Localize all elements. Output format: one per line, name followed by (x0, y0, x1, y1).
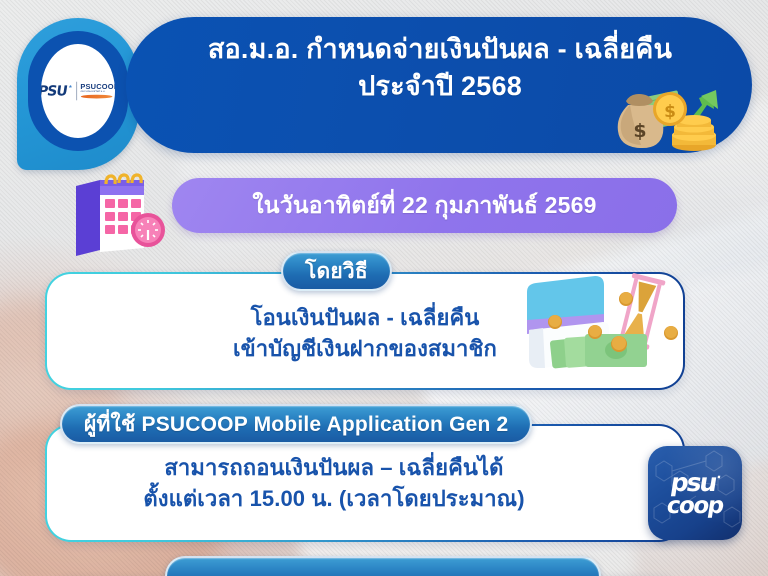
method-badge: โดยวิธี (281, 251, 392, 291)
mobile-app-card-text: สามารถถอนเงินปันผล – เฉลี่ยคืนได้ ตั้งแต… (55, 452, 613, 514)
app-icon-coop-text: coop (665, 493, 725, 519)
date-banner-text: ในวันอาทิตย์ที่ 22 กุมภาพันธ์ 2569 (252, 188, 596, 224)
page-title-line1: สอ.ม.อ. กำหนดจ่ายเงินปันผล - เฉลี่ยคืน (208, 34, 672, 64)
svg-text:$: $ (633, 120, 646, 142)
logo-pin-shape: PSU * PSUCOOP สหกรณ์ออมทรัพย์ ม.อ. (17, 18, 139, 170)
psucoop-logo-icon: PSU * PSUCOOP สหกรณ์ออมทรัพย์ ม.อ. (41, 44, 115, 138)
logo-coop-subtext: สหกรณ์ออมทรัพย์ ม.อ. (80, 91, 115, 93)
logo-divider (75, 82, 76, 101)
svg-text:$: $ (664, 102, 676, 122)
method-badge-label: โดยวิธี (305, 255, 368, 288)
logo-psu-text: PSU (41, 83, 68, 100)
wallet-cash-coins-hourglass-icon (523, 270, 699, 382)
money-bag-coins-growth-arrow-icon: $ $ (602, 65, 730, 151)
mobile-app-card-line2: ตั้งแต่เวลา 15.00 น. (เวลาโดยประมาณ) (55, 483, 613, 514)
logo-star-icon: * (68, 84, 71, 93)
mobile-app-users-badge-label: ผู้ที่ใช้ PSUCOOP Mobile Application Gen… (84, 408, 508, 441)
third-section-badge-cropped (165, 556, 601, 576)
calendar-clock-icon (60, 166, 172, 260)
date-banner: ในวันอาทิตย์ที่ 22 กุมภาพันธ์ 2569 (172, 178, 677, 233)
psucoop-app-icon: psu· coop (648, 446, 742, 540)
mobile-app-card-line1: สามารถถอนเงินปันผล – เฉลี่ยคืนได้ (55, 452, 613, 483)
logo-swoosh-shape (80, 95, 112, 99)
mobile-app-users-badge: ผู้ที่ใช้ PSUCOOP Mobile Application Gen… (60, 404, 532, 444)
poster-canvas: PSU * PSUCOOP สหกรณ์ออมทรัพย์ ม.อ. สอ.ม.… (0, 0, 768, 576)
header-banner: สอ.ม.อ. กำหนดจ่ายเงินปันผล - เฉลี่ยคืน ป… (126, 17, 752, 153)
